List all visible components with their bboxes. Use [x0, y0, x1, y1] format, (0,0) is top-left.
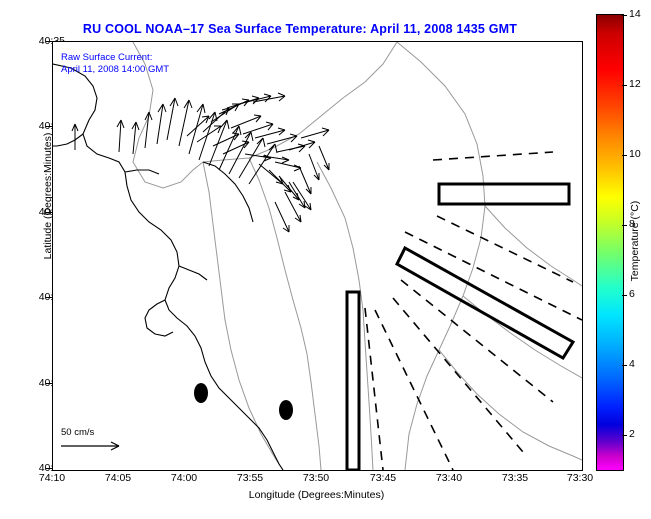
x-tick-label: 73:45 — [362, 472, 404, 484]
annotation-line-2: April 11, 2008 14:00 GMT — [61, 64, 169, 76]
chart-title: RU COOL NOAA–17 Sea Surface Temperature:… — [0, 22, 600, 36]
station-marker — [279, 400, 293, 420]
x-tick-label: 74:05 — [97, 472, 139, 484]
colorbar-tick-label: 12 — [629, 78, 641, 90]
x-axis-label: Longitude (Degrees:Minutes) — [52, 489, 581, 501]
x-tick-label: 74:10 — [31, 472, 73, 484]
colorbar-tick — [622, 225, 627, 226]
colorbar-tick-label: 14 — [629, 8, 641, 20]
map-overlay-svg — [53, 42, 582, 470]
colorbar-tick — [622, 295, 627, 296]
colorbar-tick-label: 10 — [629, 148, 641, 160]
figure: RU COOL NOAA–17 Sea Surface Temperature:… — [0, 0, 651, 519]
scale-bar-arrow — [61, 442, 119, 450]
colorbar-tick-label: 2 — [629, 428, 635, 440]
x-tick-label: 74:00 — [163, 472, 205, 484]
colorbar-tick-label: 4 — [629, 358, 635, 370]
station-marker — [194, 383, 208, 403]
map-plot-area[interactable]: Raw Surface Current: April 11, 2008 14:0… — [52, 41, 583, 471]
x-tick-label: 73:40 — [428, 472, 470, 484]
colorbar-title: Temperature (°C) — [629, 161, 641, 321]
colorbar-gradient — [597, 15, 623, 470]
x-tick-label: 73:55 — [229, 472, 271, 484]
colorbar-tick — [622, 85, 627, 86]
colorbar-tick — [622, 365, 627, 366]
scale-bar-label: 50 cm/s — [61, 427, 94, 438]
x-tick-label: 73:35 — [494, 472, 536, 484]
colorbar-tick — [622, 15, 627, 16]
colorbar-tick — [622, 155, 627, 156]
annotation-line-1: Raw Surface Current: — [61, 52, 152, 64]
x-tick-label: 73:30 — [559, 472, 601, 484]
colorbar-tick — [622, 435, 627, 436]
x-tick-label: 73:50 — [295, 472, 337, 484]
colorbar — [596, 14, 624, 471]
